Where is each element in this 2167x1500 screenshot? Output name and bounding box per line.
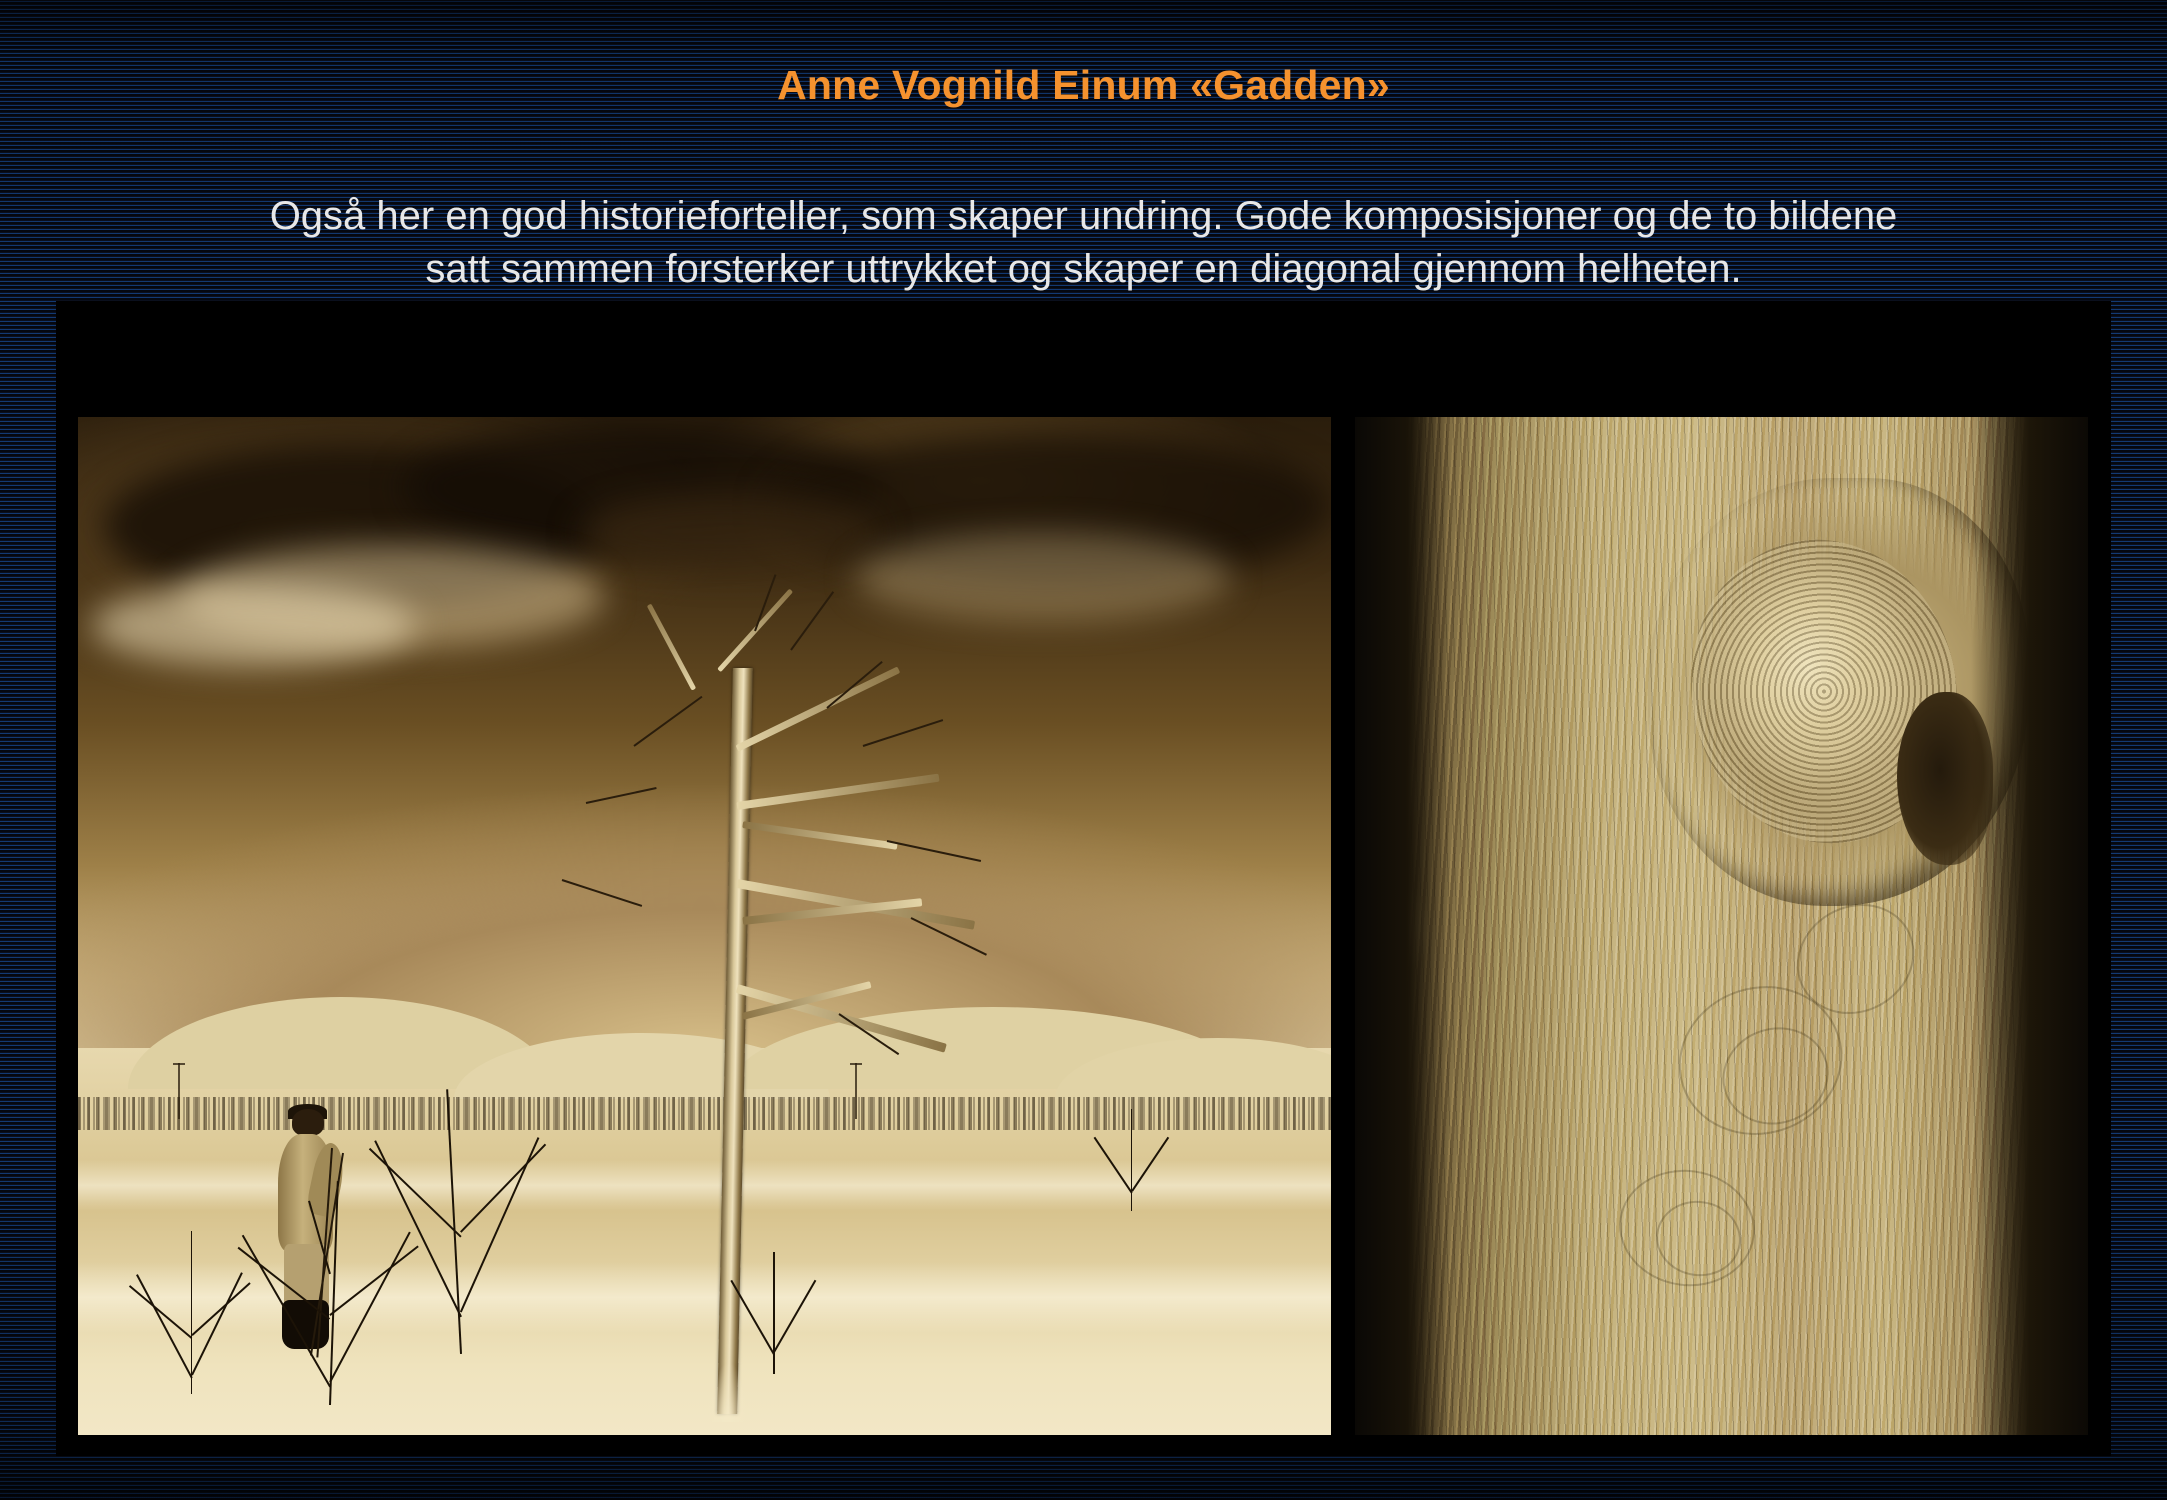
tree-branch bbox=[735, 666, 900, 751]
photo-left-skier-and-dead-tree[interactable] bbox=[78, 417, 1331, 1435]
body-line-1: Også her en god historieforteller, som s… bbox=[70, 190, 2097, 243]
bark-shadow-right bbox=[1971, 417, 2088, 1435]
photo-frame bbox=[57, 302, 2110, 1455]
foreground-bush bbox=[253, 1181, 403, 1405]
foreground-bush bbox=[730, 1252, 818, 1374]
tree-twig bbox=[887, 840, 982, 862]
tree-twig bbox=[586, 787, 657, 804]
foreground-bush bbox=[1080, 1109, 1180, 1211]
tree-twig bbox=[863, 719, 944, 747]
tree-twig bbox=[562, 879, 643, 907]
skier-head bbox=[292, 1109, 324, 1136]
photo-right-bark-closeup[interactable] bbox=[1355, 417, 2088, 1435]
bark-shadow-left bbox=[1355, 417, 1450, 1435]
foreground-bush bbox=[404, 1089, 517, 1354]
tree-twig bbox=[790, 591, 834, 651]
tree-branch bbox=[736, 774, 940, 810]
slide-background: Anne Vognild Einum «Gadden» Også her en … bbox=[0, 0, 2167, 1500]
tree-branch bbox=[647, 604, 697, 691]
cloud bbox=[91, 584, 417, 667]
body-line-2: satt sammen forsterker uttrykket og skap… bbox=[70, 243, 2097, 296]
tree-branch bbox=[742, 821, 898, 850]
power-pole bbox=[178, 1063, 180, 1119]
page-title: Anne Vognild Einum «Gadden» bbox=[0, 62, 2167, 109]
foreground-bush bbox=[128, 1231, 253, 1394]
tree-twig bbox=[634, 695, 703, 746]
